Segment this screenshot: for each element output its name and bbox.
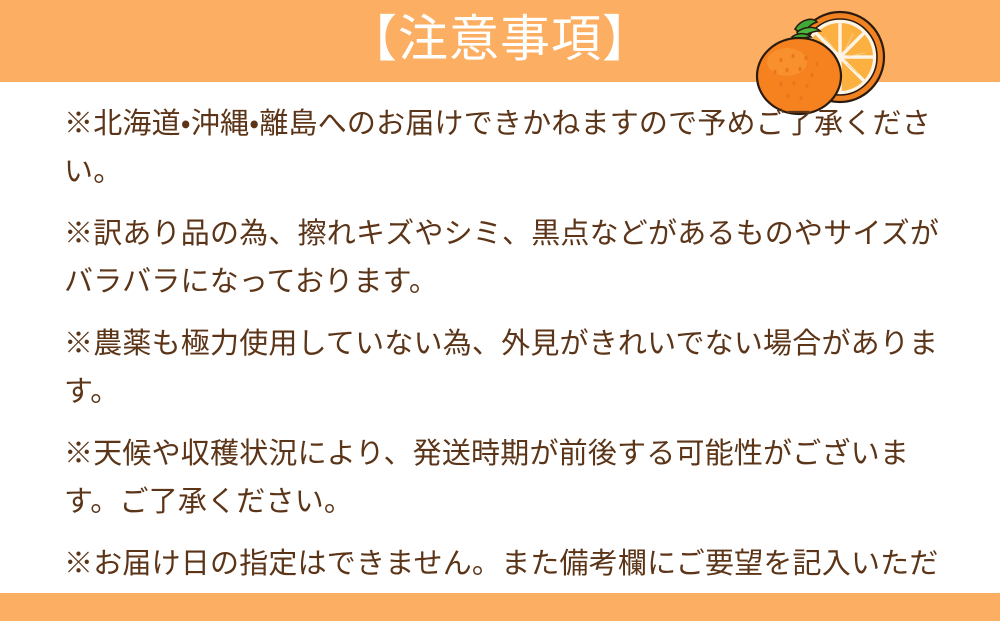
notice-list: ※北海道・沖縄・離島へのお届けできかねますので予めご了承ください。 ※訳あり品の…: [64, 99, 944, 621]
notice-item: ※天候や収穫状況により、発送時期が前後する可能性がございます。ご了承ください。: [64, 429, 944, 525]
notice-item: ※訳あり品の為、擦れキズやシミ、黒点などがあるものやサイズがバラバラになっており…: [64, 209, 944, 305]
notice-page: 【注意事項】: [0, 0, 1000, 621]
notice-item: ※農薬も極力使用していない為、外見がきれいでない場合があります。: [64, 319, 944, 415]
notice-item: ※北海道・沖縄・離島へのお届けできかねますので予めご了承ください。: [64, 99, 944, 195]
footer-band: [0, 593, 1000, 621]
